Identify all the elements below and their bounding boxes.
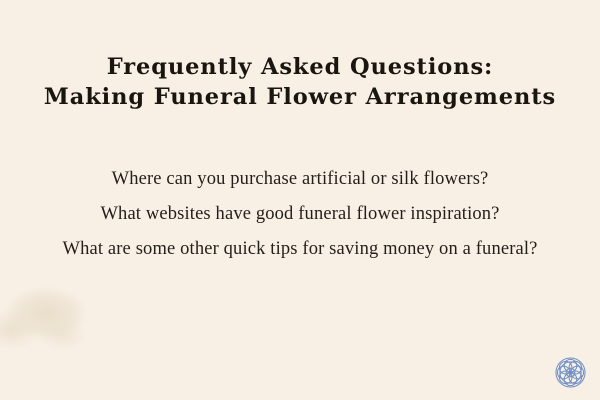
faq-slide: Frequently Asked Questions: Making Funer…: [0, 0, 600, 400]
faq-question-2: What websites have good funeral flower i…: [0, 197, 600, 232]
page-title: Frequently Asked Questions: Making Funer…: [0, 52, 600, 112]
floral-rosette-logo: [555, 357, 586, 388]
title-line-1: Frequently Asked Questions:: [0, 52, 600, 82]
faq-question-1: Where can you purchase artificial or sil…: [0, 162, 600, 197]
title-line-2: Making Funeral Flower Arrangements: [0, 82, 600, 112]
faq-question-3: What are some other quick tips for savin…: [0, 232, 600, 267]
faq-question-list: Where can you purchase artificial or sil…: [0, 162, 600, 267]
paper-smudge-watermark: [0, 278, 96, 356]
